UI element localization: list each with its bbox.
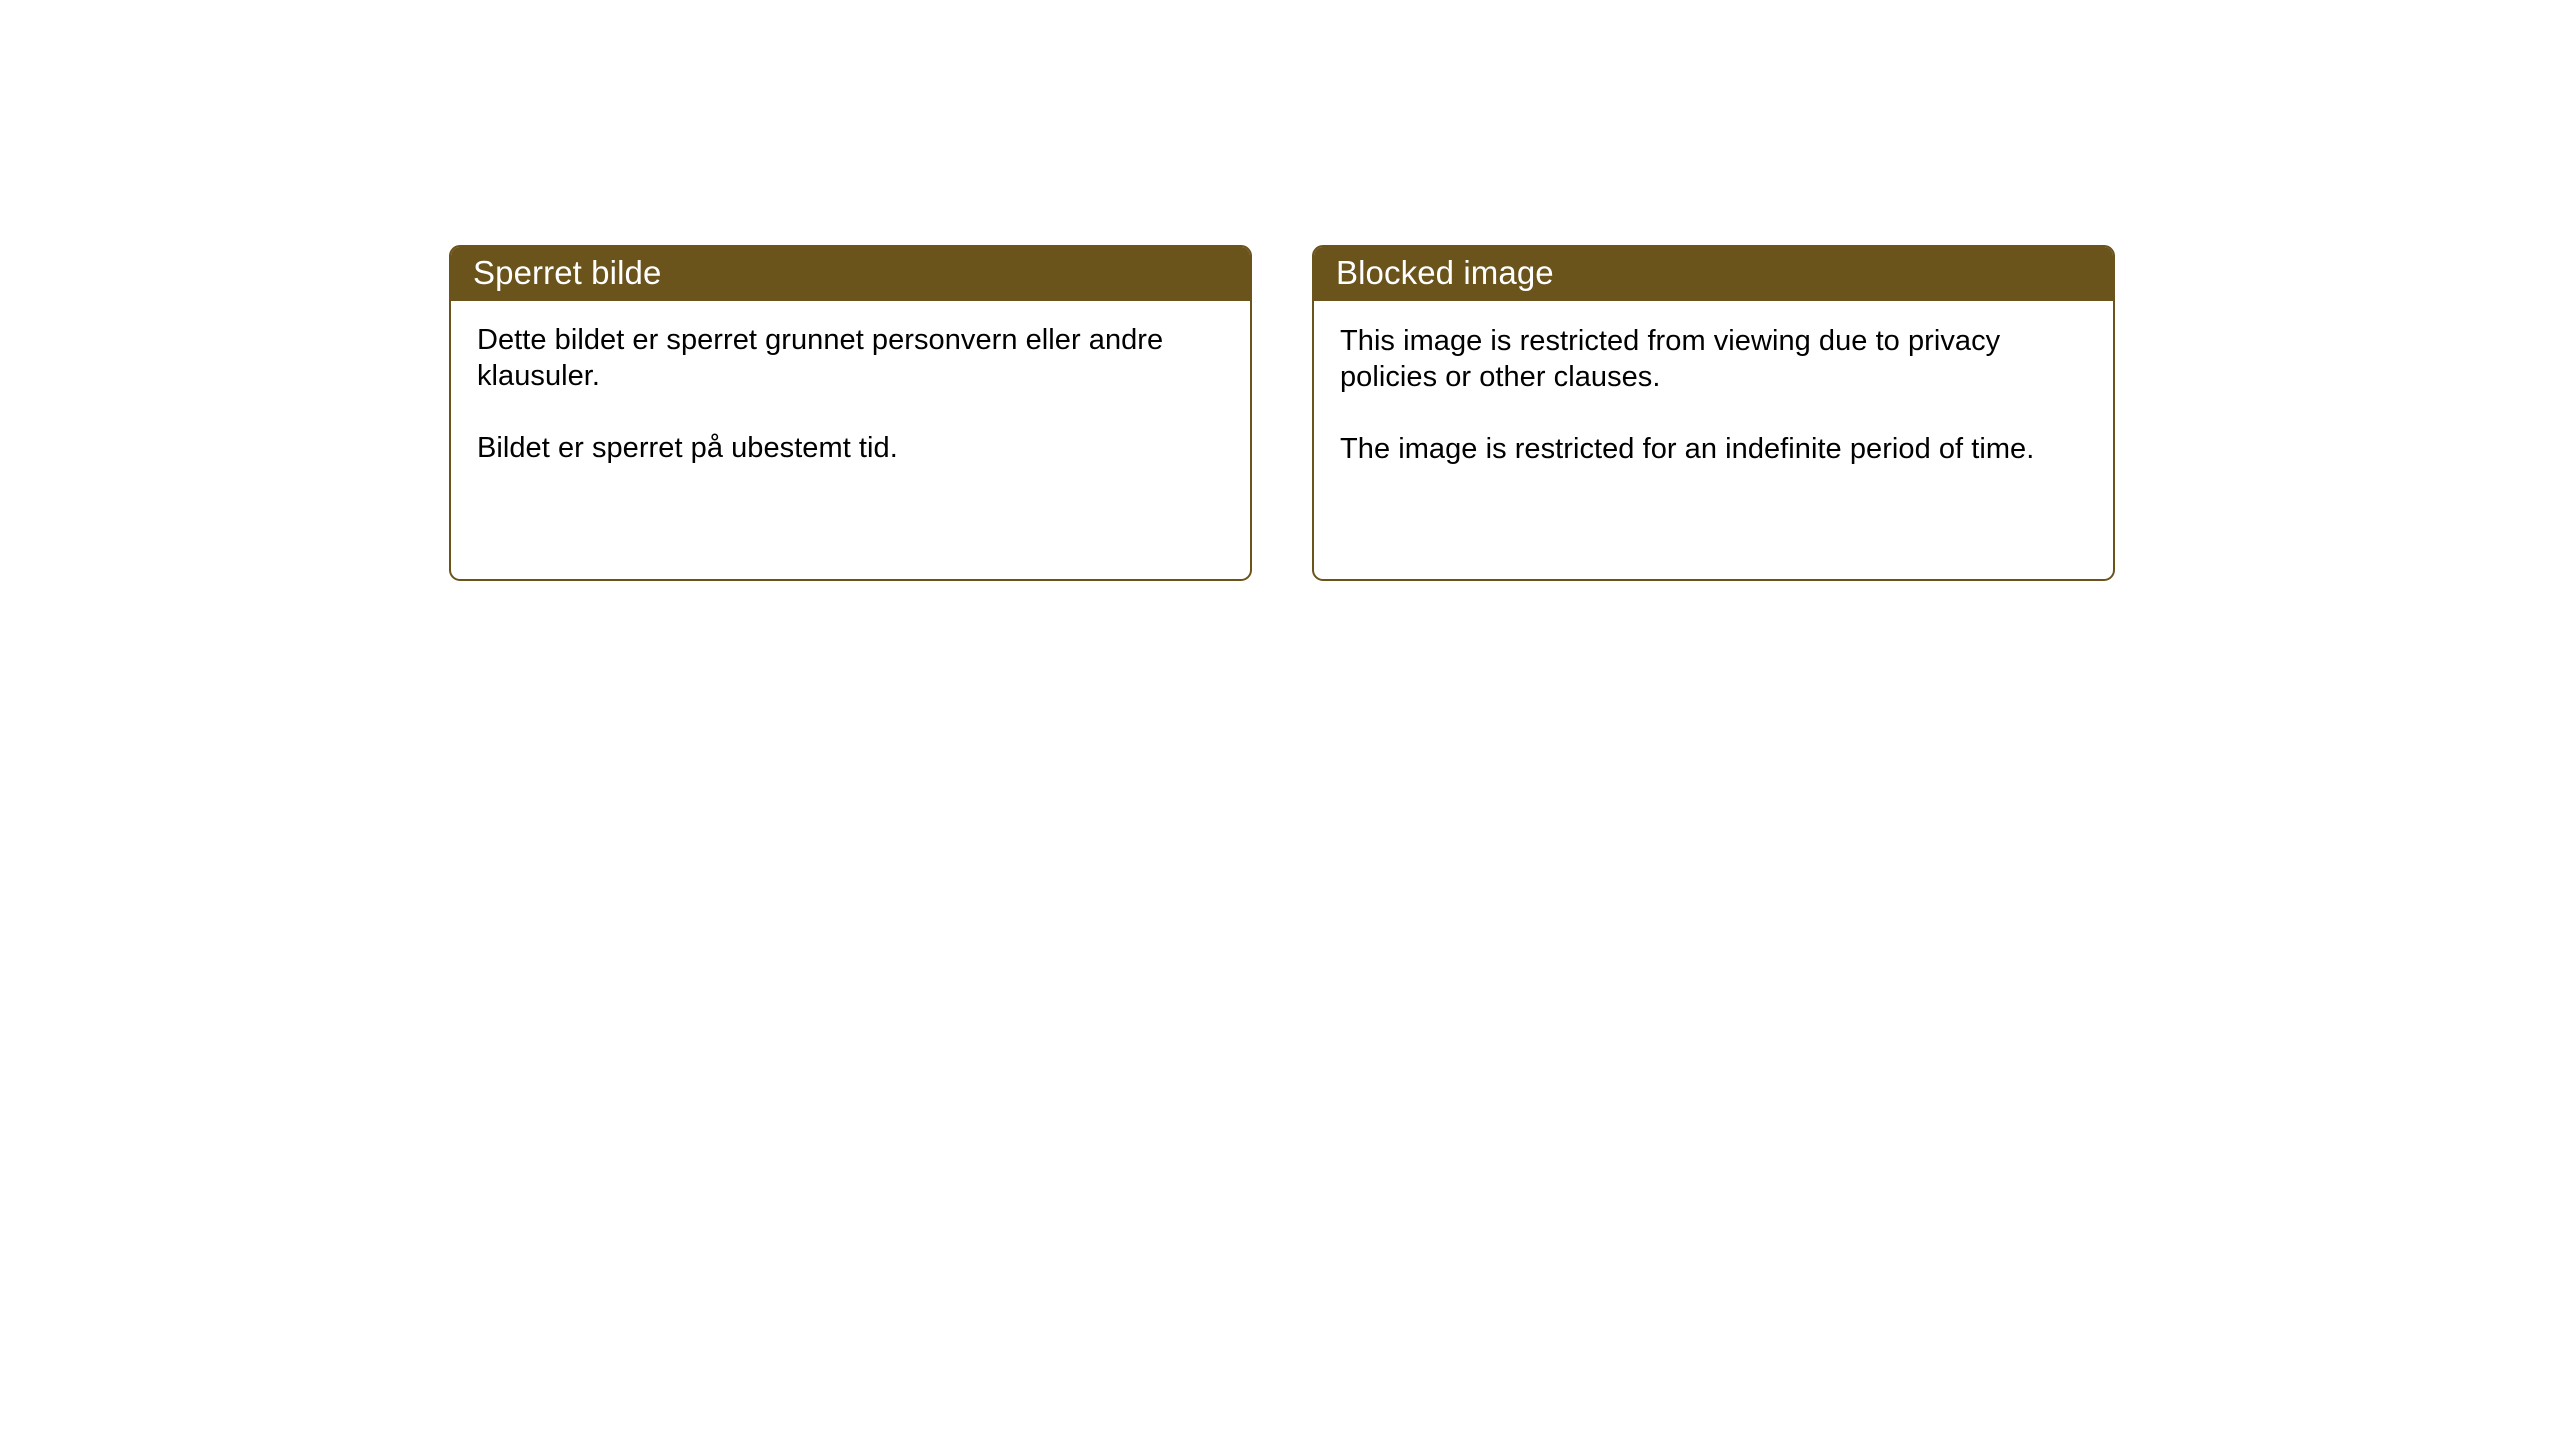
card-header-english: Blocked image (1312, 245, 2115, 301)
blocked-image-notice-card-english: Blocked image This image is restricted f… (1312, 245, 2115, 581)
card-paragraph: The image is restricted for an indefinit… (1340, 431, 2087, 467)
card-paragraph: Dette bildet er sperret grunnet personve… (477, 322, 1224, 394)
card-title-norwegian: Sperret bilde (473, 255, 661, 291)
card-paragraph: Bildet er sperret på ubestemt tid. (477, 430, 1224, 466)
card-body-english: This image is restricted from viewing du… (1314, 301, 2113, 467)
page-canvas: Sperret bilde Dette bildet er sperret gr… (0, 0, 2560, 1440)
card-paragraph: This image is restricted from viewing du… (1340, 323, 2087, 395)
blocked-image-notice-card-norwegian: Sperret bilde Dette bildet er sperret gr… (449, 245, 1252, 581)
card-header-norwegian: Sperret bilde (449, 245, 1252, 301)
card-body-norwegian: Dette bildet er sperret grunnet personve… (451, 301, 1250, 466)
card-title-english: Blocked image (1336, 255, 1554, 291)
